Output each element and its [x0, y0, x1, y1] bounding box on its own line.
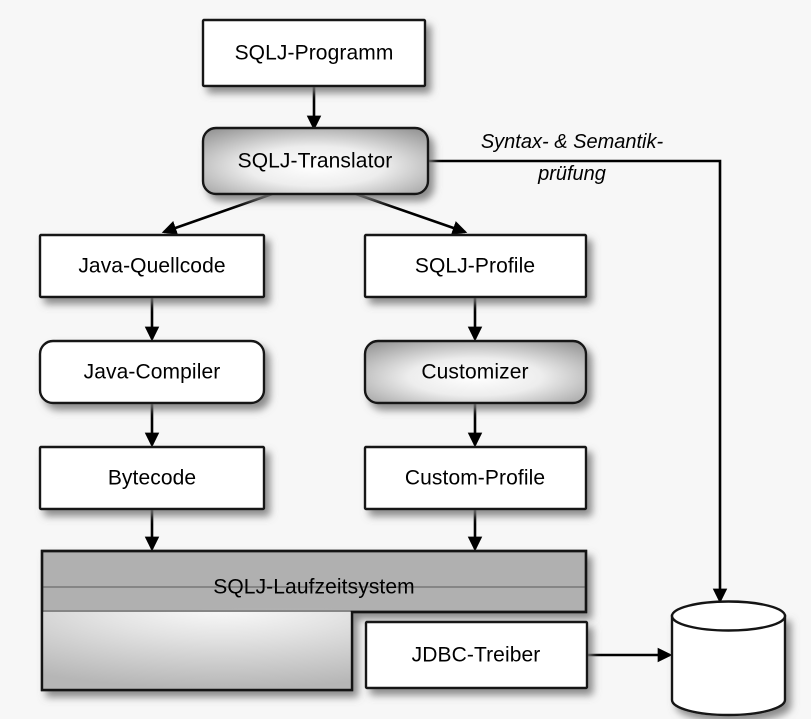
node-bytecode[interactable]: Bytecode	[40, 447, 264, 509]
database-cylinder-top	[672, 602, 785, 631]
edge-translator-to-quellcode	[164, 194, 272, 232]
jdbc-treiber-label: JDBC-Treiber	[412, 644, 541, 667]
node-datenbank[interactable]	[672, 602, 785, 716]
sqlj-translator-label: SQLJ-Translator	[238, 150, 393, 173]
bytecode-label: Bytecode	[108, 467, 196, 490]
custom-profile-label: Custom-Profile	[405, 467, 545, 490]
sqlj-programm-label: SQLJ-Programm	[235, 42, 394, 65]
edge-translator-to-profile	[356, 194, 465, 232]
node-sqlj-translator[interactable]: SQLJ-Translator	[203, 128, 428, 194]
diagram-canvas: SQLJ-Laufzeitsystem SQLJ-Programm SQLJ-T…	[0, 0, 811, 719]
syntax-check-line2: prüfung	[537, 163, 606, 185]
laufzeitsystem-label: SQLJ-Laufzeitsystem	[213, 576, 414, 599]
java-compiler-label: Java-Compiler	[84, 361, 221, 384]
node-custom-profile[interactable]: Custom-Profile	[365, 447, 586, 509]
customizer-label: Customizer	[421, 361, 528, 384]
node-java-quellcode[interactable]: Java-Quellcode	[40, 235, 264, 297]
diagram-root: SQLJ-Laufzeitsystem SQLJ-Programm SQLJ-T…	[0, 0, 811, 719]
node-sqlj-profile[interactable]: SQLJ-Profile	[365, 235, 586, 297]
node-customizer[interactable]: Customizer	[365, 341, 586, 403]
node-java-compiler[interactable]: Java-Compiler	[40, 341, 264, 403]
syntax-check-line1: Syntax- & Semantik-	[481, 131, 664, 153]
edge-label-syntax-check: Syntax- & Semantik- prüfung	[481, 131, 664, 185]
node-jdbc-treiber[interactable]: JDBC-Treiber	[366, 622, 587, 688]
node-sqlj-programm[interactable]: SQLJ-Programm	[203, 20, 425, 86]
sqlj-profile-label: SQLJ-Profile	[415, 255, 535, 278]
java-quellcode-label: Java-Quellcode	[78, 255, 225, 278]
